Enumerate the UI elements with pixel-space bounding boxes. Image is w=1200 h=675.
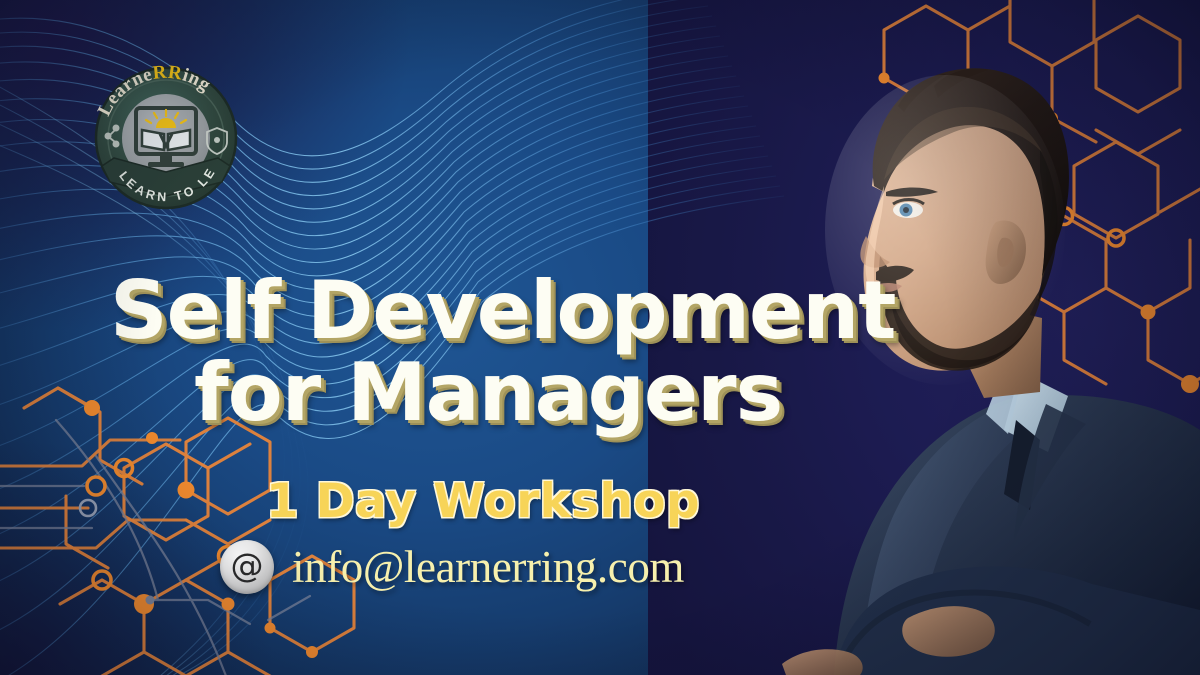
contact-email-row[interactable]: @ info@learnerring.com	[220, 540, 684, 594]
title-line-2: for Managers	[194, 354, 890, 432]
subtitle-workshop: 1 Day Workshop	[266, 474, 700, 529]
event-banner: LearneRRing LEARN TO LEAD Self Developme…	[0, 0, 1200, 675]
title-line-1: Self Development	[110, 272, 890, 350]
contact-email[interactable]: info@learnerring.com	[292, 541, 684, 593]
learnerring-logo[interactable]: LearneRRing LEARN TO LEAD	[84, 54, 248, 224]
at-sign-icon: @	[220, 540, 274, 594]
page-title: Self Development for Managers	[110, 272, 890, 431]
